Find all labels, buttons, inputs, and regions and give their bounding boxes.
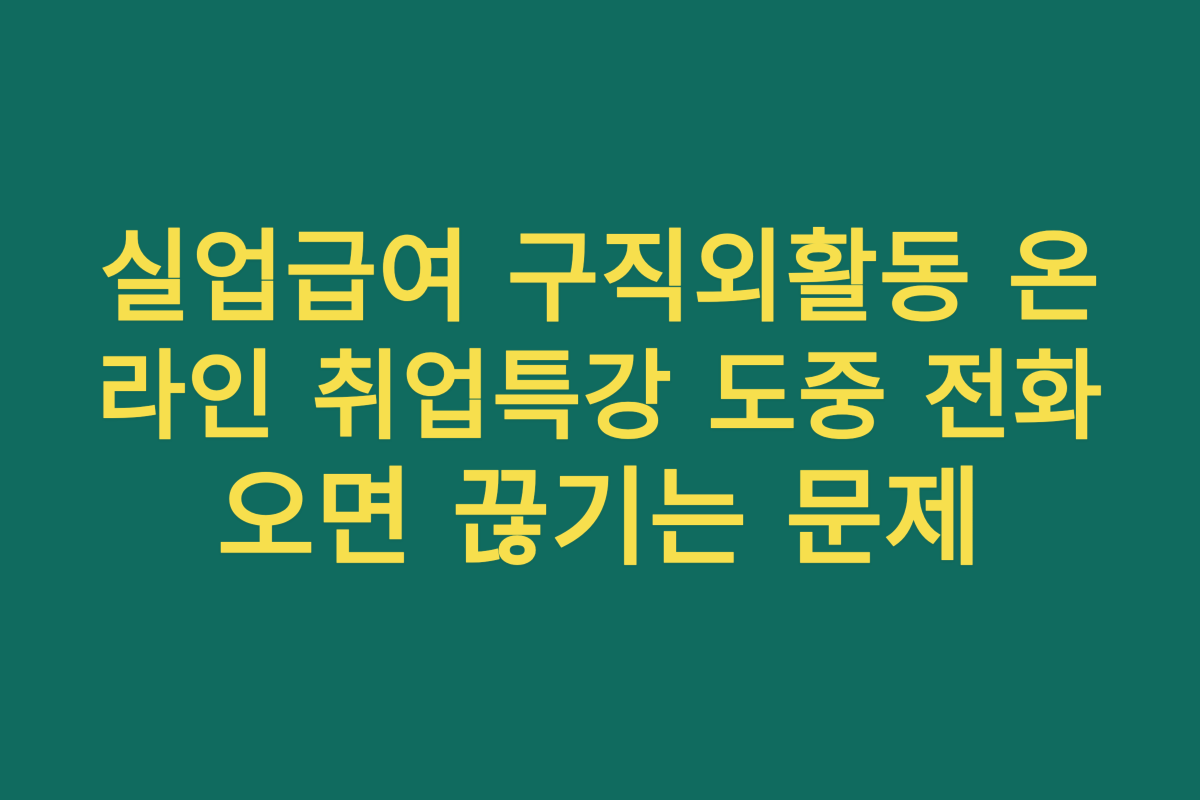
headline-block: 실업급여 구직외활동 온 라인 취업특강 도중 전화 오면 끊기는 문제 xyxy=(50,217,1150,583)
headline-line-3: 오면 끊기는 문제 xyxy=(217,455,982,583)
headline-line-1: 실업급여 구직외활동 온 xyxy=(99,217,1101,338)
headline-line-2: 라인 취업특강 도중 전화 xyxy=(97,338,1104,455)
text-card: 실업급여 구직외활동 온 라인 취업특강 도중 전화 오면 끊기는 문제 xyxy=(0,0,1200,800)
